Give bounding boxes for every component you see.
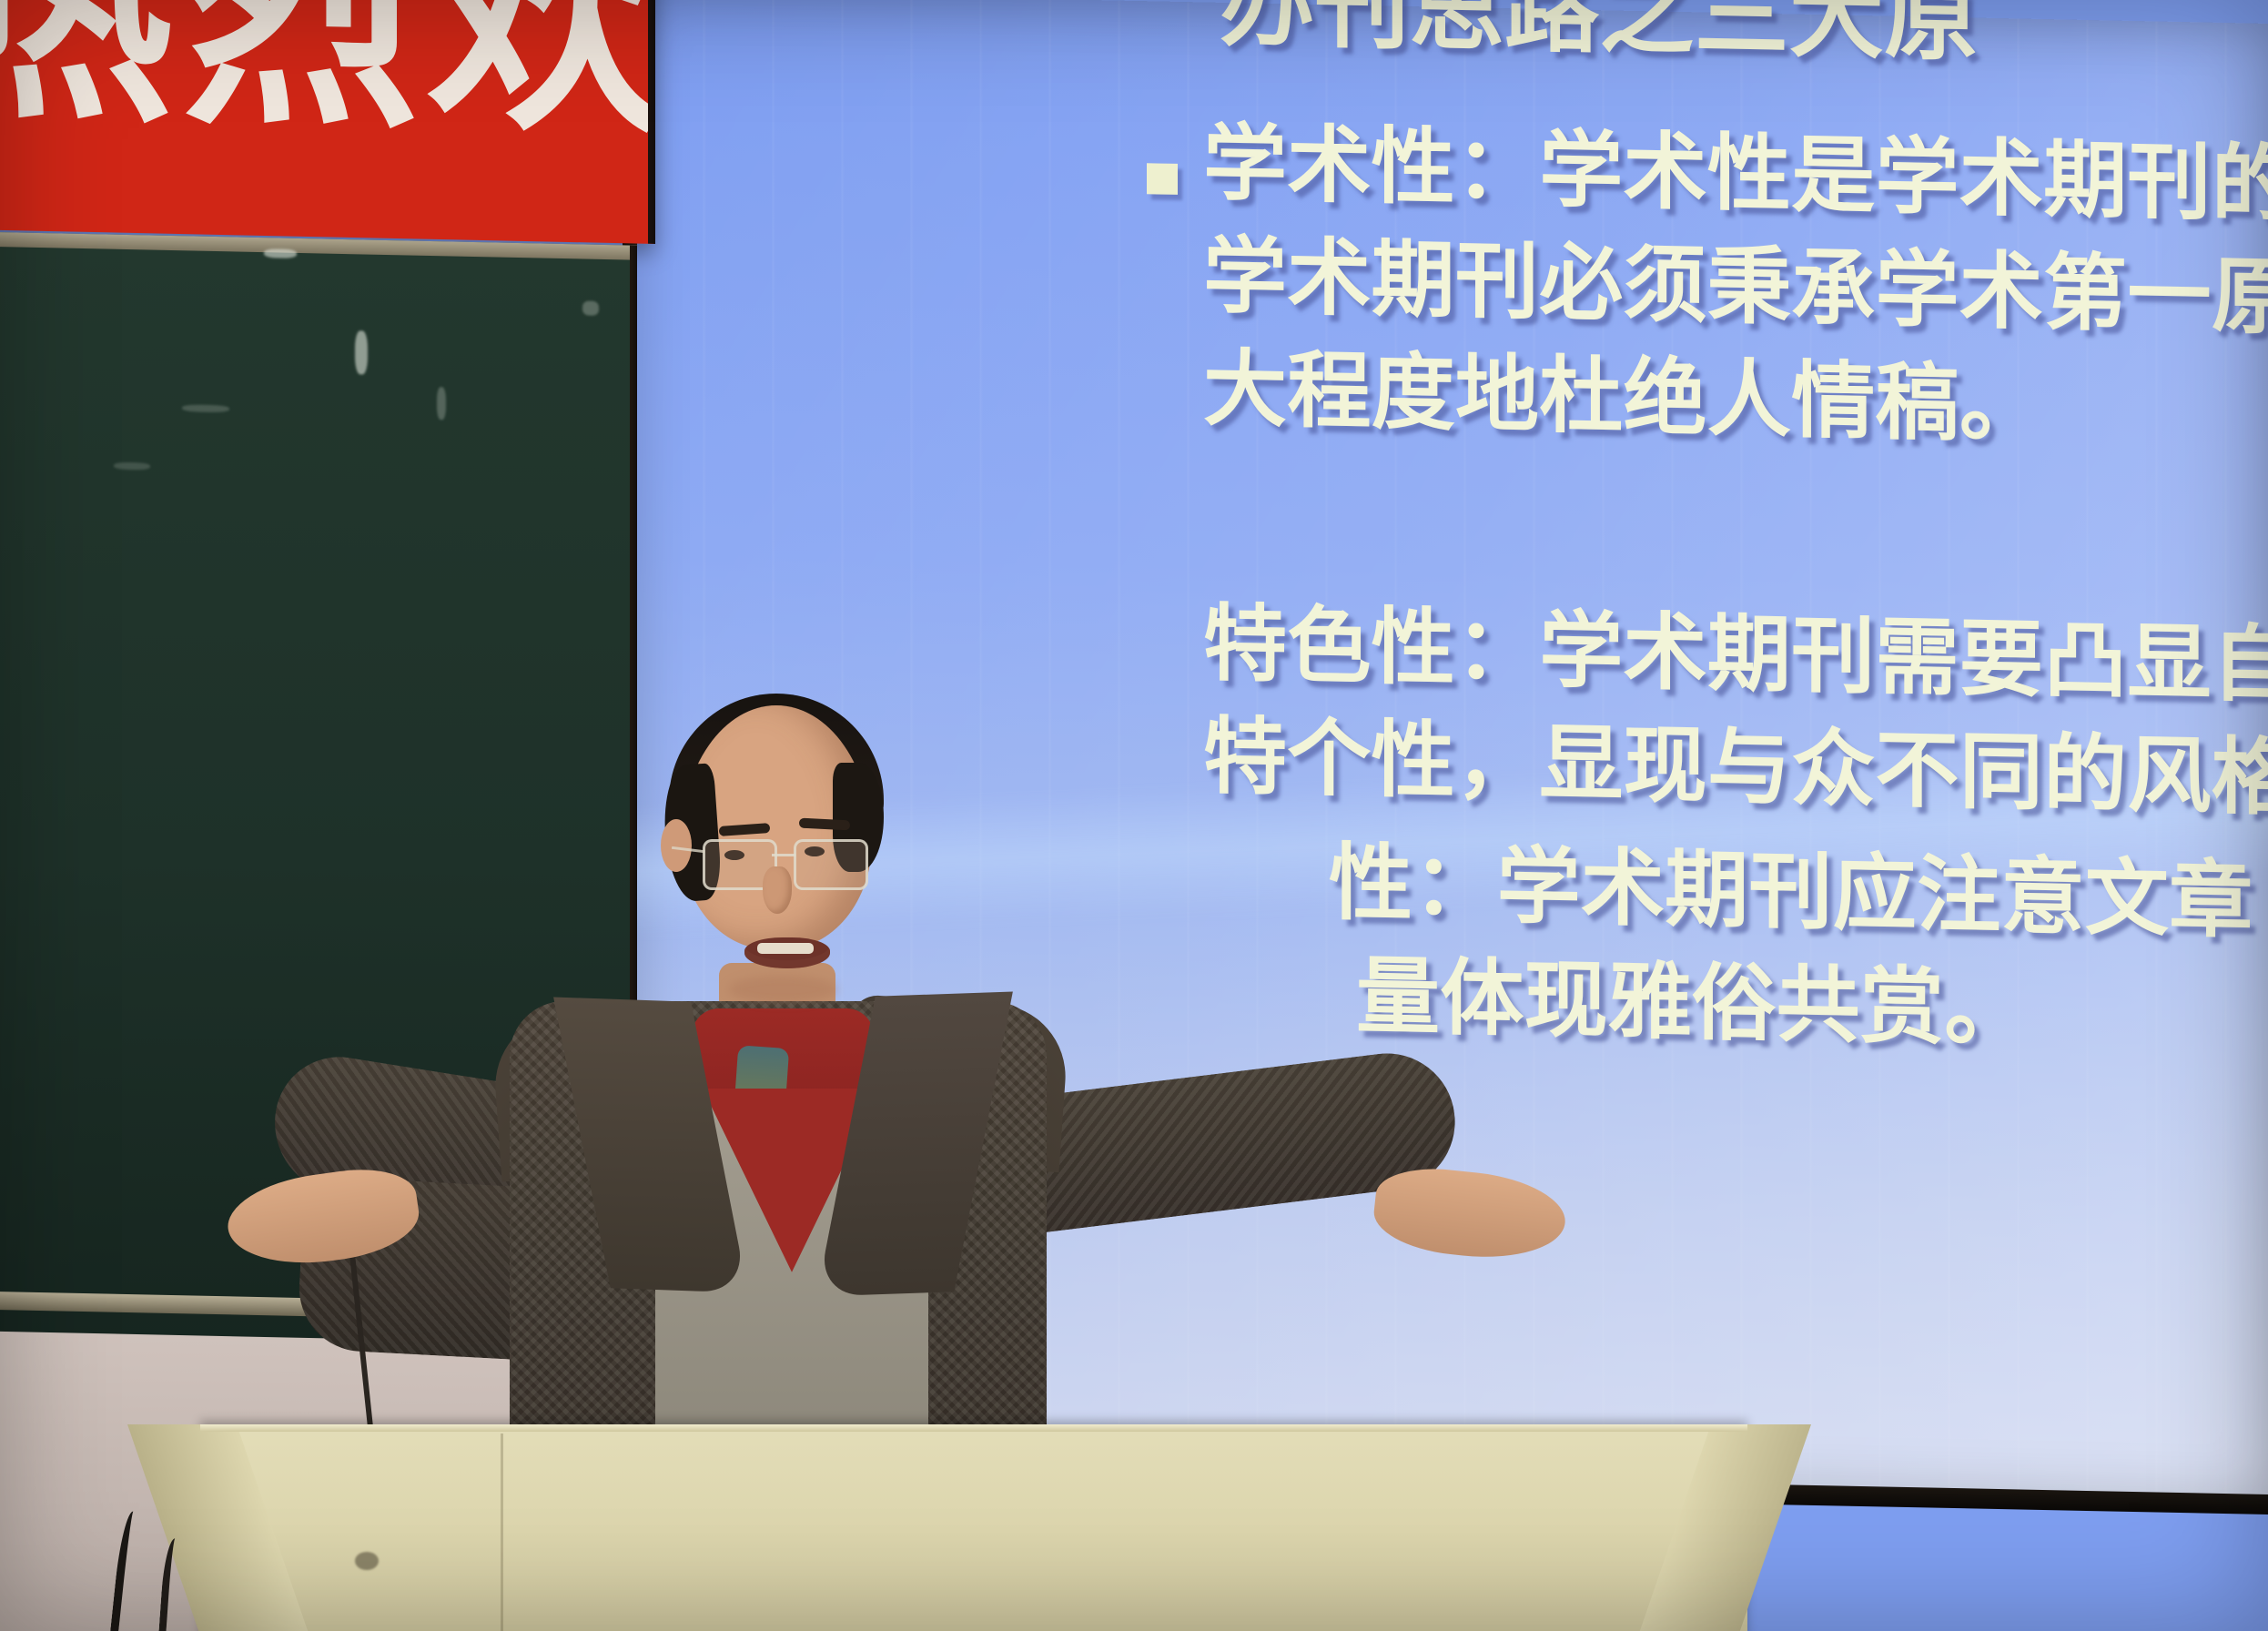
chin-shadow xyxy=(728,976,837,1003)
glasses-right-lens xyxy=(794,839,868,890)
lectern-top-edge xyxy=(200,1424,1747,1432)
nose xyxy=(763,866,792,914)
lectern-knob xyxy=(355,1552,379,1570)
lectern xyxy=(200,1424,1747,1631)
lectern-panel-seam xyxy=(501,1433,503,1631)
right-hand xyxy=(1371,1162,1569,1265)
teeth xyxy=(757,943,814,954)
lecturer xyxy=(0,0,2268,1631)
glasses-bridge xyxy=(772,854,795,856)
photograph: 办刊思路之三大原 学术性：学术性是学术期刊的生 学术期刊必须秉承学术第一原 大程… xyxy=(0,0,2268,1631)
left-ear xyxy=(661,819,692,872)
